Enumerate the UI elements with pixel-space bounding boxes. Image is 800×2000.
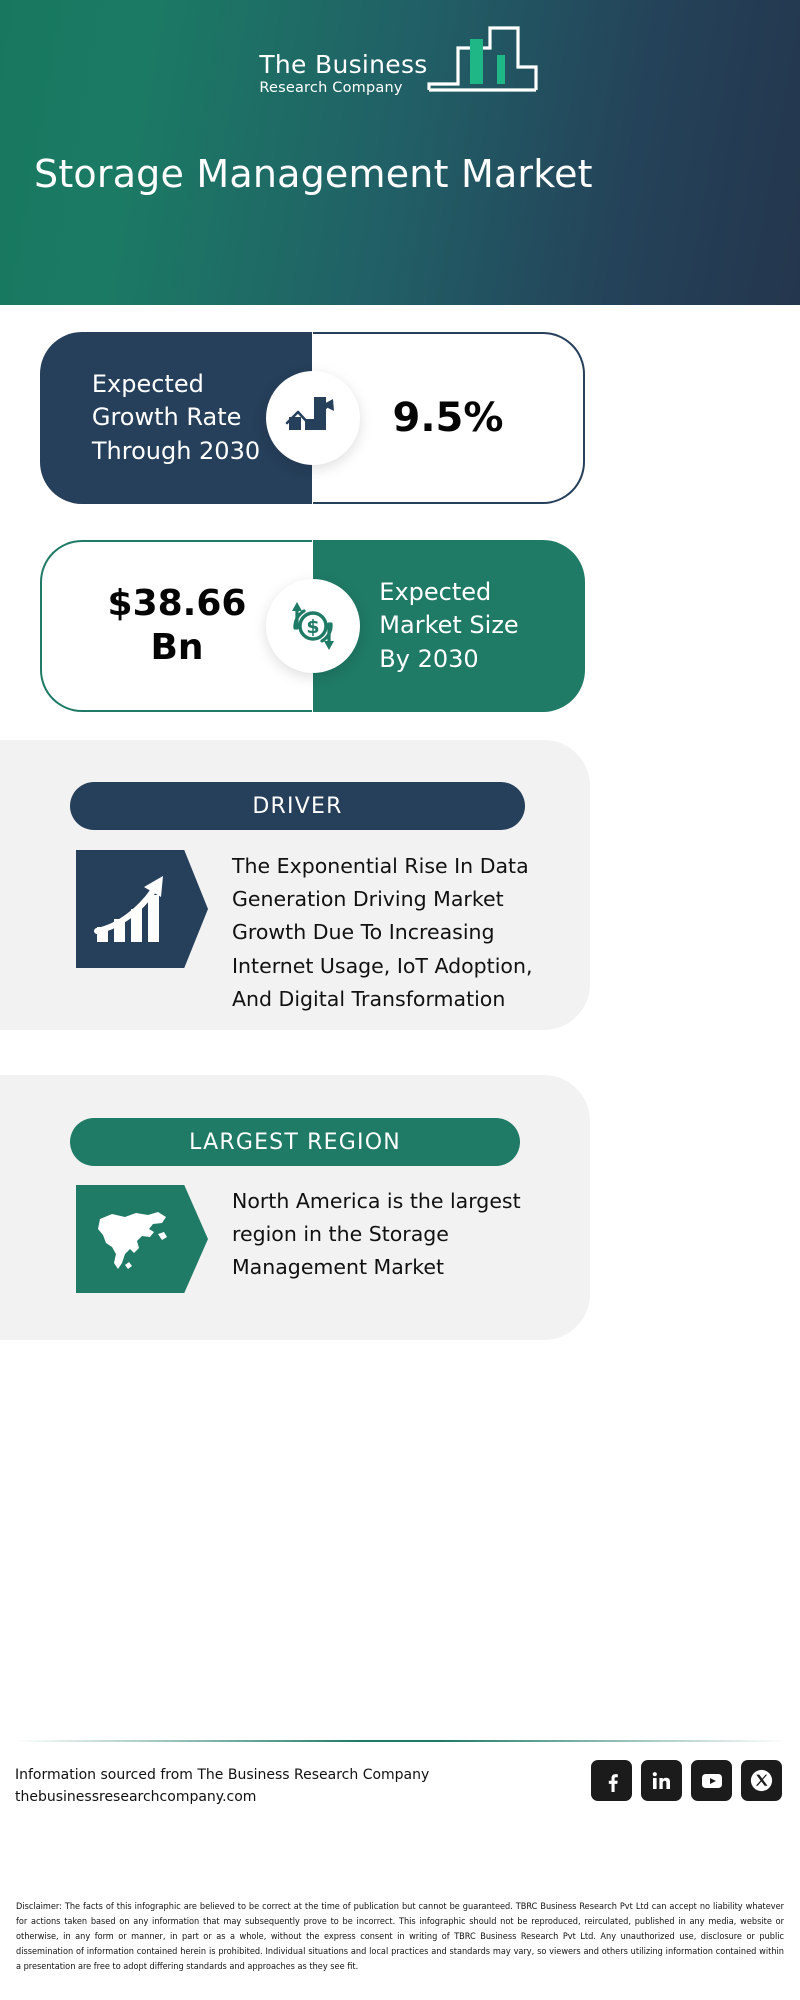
largest-region-content: North America is the largest region in t… xyxy=(76,1185,550,1293)
driver-pill-label: DRIVER xyxy=(252,794,342,819)
brand-logo-text: The Business Research Company xyxy=(259,52,427,97)
youtube-icon[interactable] xyxy=(691,1760,732,1801)
brand-logo: The Business Research Company xyxy=(0,22,800,97)
dollar-circular-arrows-icon: $ xyxy=(266,579,360,673)
linkedin-icon[interactable] xyxy=(641,1760,682,1801)
disclaimer-text: Disclaimer: The facts of this infographi… xyxy=(16,1900,784,1975)
driver-content: The Exponential Rise In Data Generation … xyxy=(76,850,550,1016)
market-size-value: $38.66 Bn xyxy=(108,582,247,670)
facebook-icon[interactable] xyxy=(591,1760,632,1801)
x-twitter-icon[interactable] xyxy=(741,1760,782,1801)
largest-region-pill: LARGEST REGION xyxy=(70,1118,520,1166)
driver-text: The Exponential Rise In Data Generation … xyxy=(232,850,550,1016)
source-info: Information sourced from The Business Re… xyxy=(15,1765,429,1808)
stat-card-market-size: $38.66 Bn Expected Market Size By 2030 $ xyxy=(40,540,585,712)
svg-text:$: $ xyxy=(306,616,319,638)
social-links xyxy=(591,1760,782,1801)
driver-pill: DRIVER xyxy=(70,782,525,830)
stat-card-growth-rate: Expected Growth Rate Through 2030 9.5% xyxy=(40,332,585,504)
hero-header: The Business Research Company Storage Ma… xyxy=(0,0,800,305)
largest-region-pill-label: LARGEST REGION xyxy=(189,1130,401,1155)
growth-chart-arrow-icon xyxy=(266,371,360,465)
bar-chart-logo-icon xyxy=(426,22,541,99)
brand-name-line2: Research Company xyxy=(259,80,402,97)
page-title: Storage Management Market xyxy=(34,152,593,196)
growth-rate-label: Expected Growth Rate Through 2030 xyxy=(78,368,274,467)
largest-region-text: North America is the largest region in t… xyxy=(232,1185,550,1285)
footer-divider xyxy=(14,1740,786,1742)
source-line-1: Information sourced from The Business Re… xyxy=(15,1765,429,1787)
rising-bar-chart-arrow-icon xyxy=(76,850,208,968)
market-size-label: Expected Market Size By 2030 xyxy=(365,576,532,675)
brand-name-line1: The Business xyxy=(259,52,427,78)
growth-rate-value: 9.5% xyxy=(393,394,504,443)
source-website-link[interactable]: thebusinessresearchcompany.com xyxy=(15,1787,429,1809)
north-america-map-icon xyxy=(76,1185,208,1293)
